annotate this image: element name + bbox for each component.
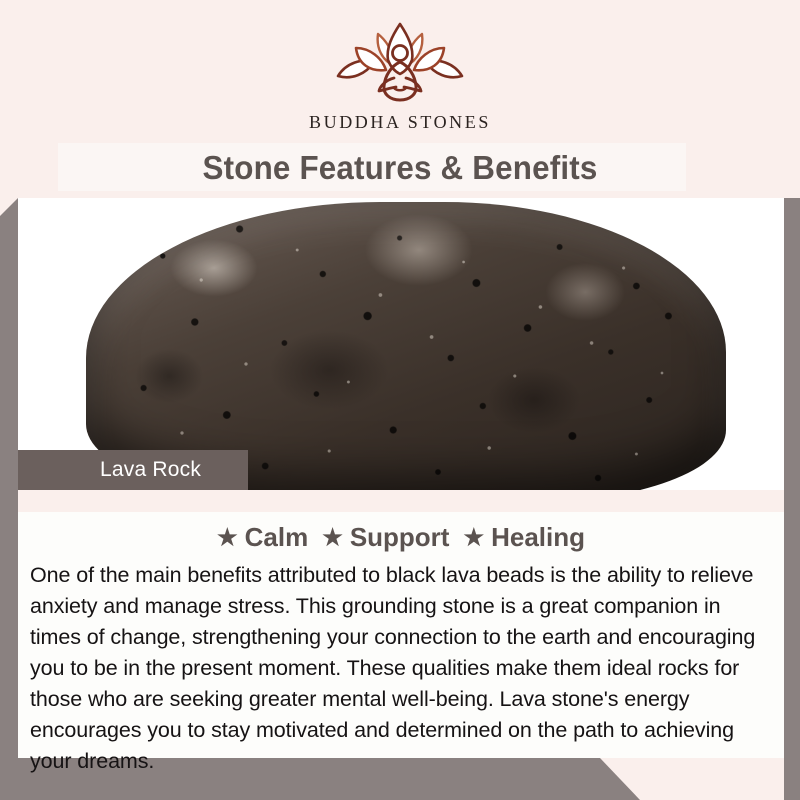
content-panel: ★ Calm ★ Support ★ Healing One of the ma…	[18, 512, 784, 758]
section-divider	[18, 490, 784, 512]
benefit-item-support: ★ Support	[322, 522, 449, 553]
brand-wordmark: BUDDHA STONES	[0, 112, 800, 133]
benefit-item-healing: ★ Healing	[463, 522, 585, 553]
star-icon: ★	[217, 526, 238, 549]
page-title: Stone Features & Benefits	[20, 143, 780, 193]
photo-caption-label: Lava Rock	[18, 458, 201, 482]
benefit-label-support: Support	[350, 522, 450, 553]
rock-body	[86, 202, 726, 490]
lotus-meditation-icon	[316, 18, 484, 110]
star-icon: ★	[463, 526, 484, 549]
rock-speckle-texture	[86, 202, 726, 490]
description-text: One of the main benefits attributed to b…	[30, 560, 772, 777]
benefit-item-calm: ★ Calm	[217, 522, 308, 553]
benefits-row: ★ Calm ★ Support ★ Healing	[18, 512, 784, 553]
lava-rock-photo	[18, 198, 784, 490]
frame-bar-left	[0, 198, 18, 800]
photo-caption-bar: Lava Rock	[18, 450, 248, 490]
brand-logo: BUDDHA STONES	[0, 18, 800, 133]
star-icon: ★	[322, 526, 343, 549]
benefit-label-healing: Healing	[491, 522, 585, 553]
infographic-card: BUDDHA STONES Stone Features & Benefits …	[0, 0, 800, 800]
brand-header: BUDDHA STONES	[0, 0, 800, 143]
benefit-label-calm: Calm	[245, 522, 309, 553]
